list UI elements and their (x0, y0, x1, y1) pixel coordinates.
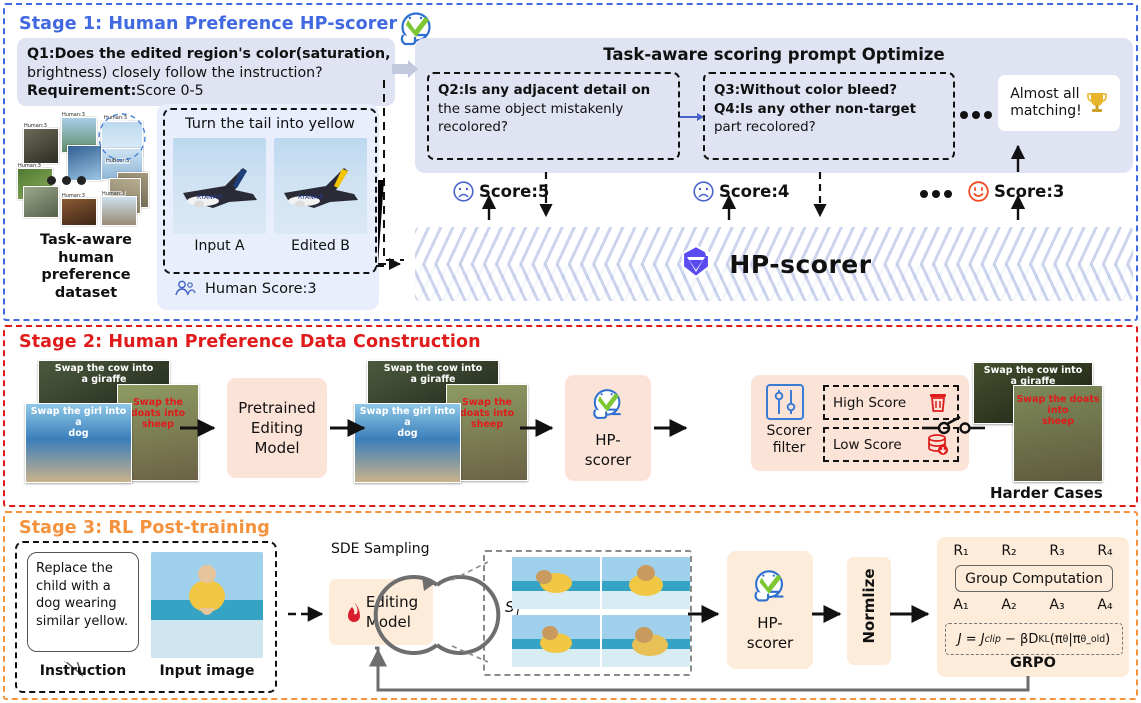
caption-cow: Swap the cow intoa giraffe (974, 365, 1092, 387)
editing-model-label: EditingModel (366, 592, 418, 632)
happy-face-icon (968, 181, 989, 202)
image-pair-labels: Input A Edited B (173, 238, 367, 254)
svg-text:RYANAIR: RYANAIR (197, 194, 223, 201)
low-score-label: Low Score (833, 437, 902, 453)
optimize-title: Task-aware scoring prompt Optimize (415, 45, 1133, 64)
stage-2-title: Stage 2: Human Preference Data Construct… (19, 332, 481, 352)
harder-cases-label: Harder Cases (990, 484, 1103, 502)
q2-line-1: Q2:Is any adjacent detail on (438, 82, 669, 101)
low-score-row: Low Score (823, 427, 959, 462)
pretrained-editing-model-box: PretrainedEditingModel (227, 378, 327, 478)
q3-line: Q3:Without color bleed? (714, 82, 944, 101)
hp-scorer-label: HP-scorer (729, 250, 871, 279)
scorer-filter-box: Scorerfilter High Score Low Score (751, 375, 969, 471)
input-image (151, 552, 263, 658)
score-3-label: Score:3 (994, 182, 1064, 201)
human-score-row: Human Score:3 (173, 280, 317, 297)
thumbnail (61, 198, 97, 226)
task-aware-dataset: Human:3 Human:3 Human:3 HuBoor:3 Human:3… (15, 110, 155, 310)
grpo-label: GRPO (937, 655, 1129, 671)
reward-2: R₂ (1001, 543, 1016, 559)
image-pair: RYANAIR RYANAIR (173, 138, 367, 234)
sample-dashed-frame: Turn the tail into yellow RYANAIR (163, 108, 377, 274)
hp-head-check-icon (749, 567, 791, 609)
caption-girl: Swap the girl into adog (26, 406, 131, 439)
score-4-row: Score:4 (693, 181, 789, 202)
advantage-2: A₂ (1001, 597, 1016, 613)
thumbnail-label: Human:3 (101, 191, 126, 197)
flame-icon (344, 601, 364, 623)
trash-icon (927, 392, 949, 414)
almost-matching-text: Almost all matching! (1010, 86, 1082, 120)
caption-girl: Swap the girl into adog (355, 406, 460, 439)
hp-scorer-bar: HP-scorer (415, 227, 1133, 301)
q2-line-3: recolored? (438, 119, 669, 138)
instruction-text: Replace the child with a dog wearing sim… (36, 560, 130, 630)
photo-girl-dog: Swap the girl into adog (25, 403, 132, 483)
stage-3-title: Stage 3: RL Post-training (19, 518, 270, 538)
selection-circle-icon (97, 112, 147, 162)
advantage-4: A₄ (1097, 597, 1112, 613)
hp-head-check-icon (588, 386, 628, 426)
stage-2-panel: Stage 2: Human Preference Data Construct… (3, 325, 1138, 507)
thumbnail-label: Human:3 (61, 193, 86, 199)
almost-matching-box: Almost all matching! (998, 75, 1120, 131)
advantages-row: A₁ A₂ A₃ A₄ (937, 597, 1129, 613)
scorer-filter-label: Scorerfilter (759, 423, 819, 457)
instruction-caption: Instruction (27, 663, 139, 679)
thumbnail-label: Human:3 (23, 123, 48, 129)
high-score-row: High Score (823, 385, 959, 420)
sde-sampling-label: SDE Sampling (331, 541, 430, 557)
stage-3-panel: Stage 3: RL Post-training Replace the ch… (3, 511, 1138, 700)
thumbnail (101, 196, 137, 226)
thumbnail-label: Human:3 (17, 163, 42, 169)
hp-scorer-label-stage3: HP-scorer (747, 613, 793, 653)
hp-scorer-label-stage2: HP-scorer (585, 430, 631, 470)
database-down-icon (927, 434, 949, 456)
instruction-input-box: Replace the child with a dog wearing sim… (15, 541, 277, 693)
dataset-thumbnails: Human:3 Human:3 Human:3 HuBoor:3 Human:3… (15, 110, 155, 220)
editing-model-box: EditingModel (329, 579, 433, 645)
q2-box: Q2:Is any adjacent detail on the same ob… (427, 72, 680, 160)
rewards-row: R₁ R₂ R₃ R₄ (937, 543, 1129, 559)
people-icon (173, 280, 197, 297)
hp-scorer-box-stage3: HP-scorer (727, 551, 813, 669)
optimize-panel: Task-aware scoring prompt Optimize Q2:Is… (415, 38, 1133, 173)
score-5-row: Score:5 (453, 181, 549, 202)
q1-line-2: brightness) closely follow the instructi… (27, 64, 385, 83)
stage-1-panel: Stage 1: Human Preference HP-scorer Q1:D… (3, 3, 1138, 321)
sampled-outputs-grid (483, 550, 692, 676)
optimize-ellipsis (960, 111, 992, 119)
advantage-3: A₃ (1049, 597, 1064, 613)
q3-q4-box: Q3:Without color bleed? Q4:Is any other … (703, 72, 955, 160)
normalize-box: Normlize (847, 557, 891, 665)
caption-cow: Swap the cow intoa giraffe (368, 363, 498, 385)
dataset-caption: Task-aware human preference dataset (13, 232, 159, 302)
optimize-arrow-icon (680, 112, 704, 122)
score-3-row: Score:3 (968, 181, 1064, 202)
normalize-label: Normlize (860, 552, 878, 660)
hp-scorer-box-stage2: HP-scorer (565, 375, 651, 481)
sample-cell (512, 557, 600, 609)
trophy-icon (1086, 91, 1108, 115)
label-input-a: Input A (173, 238, 266, 254)
group-computation-label: Group Computation (955, 565, 1113, 592)
q4-line-1: Q4:Is any other non-target (714, 101, 944, 120)
reward-3: R₃ (1049, 543, 1064, 559)
photo-girl-dog-out: Swap the girl into adog (354, 403, 461, 483)
instruction-bubble: Replace the child with a dog wearing sim… (27, 552, 139, 652)
pretrained-editing-model-label: PretrainedEditingModel (238, 398, 316, 458)
grpo-formula: J = Jclip − βDKL(πθ|πθ_old) (945, 623, 1123, 655)
sample-instruction: Turn the tail into yellow (165, 116, 375, 132)
sad-face-icon (693, 181, 714, 202)
human-score-text: Human Score:3 (205, 281, 317, 297)
stage-1-title: Stage 1: Human Preference HP-scorer (19, 14, 397, 34)
score-4-label: Score:4 (719, 182, 789, 201)
score-5-label: Score:5 (479, 182, 549, 201)
q4-line-2: part recolored? (714, 119, 944, 138)
sample-cell (602, 615, 690, 667)
thumbnail (23, 128, 59, 164)
q2-line-2: the same object mistakenly (438, 101, 669, 120)
ellipsis-dots (47, 176, 86, 185)
caption-cow: Swap the cow intoa giraffe (39, 363, 169, 385)
input-image-a: RYANAIR (173, 138, 266, 234)
sample-card: Turn the tail into yellow RYANAIR (157, 104, 379, 310)
grpo-box: R₁ R₂ R₃ R₄ Group Computation A₁ A₂ A₃ A… (937, 537, 1129, 677)
reward-1: R₁ (953, 543, 968, 559)
q1-prompt-box: Q1:Does the edited region's color(satura… (17, 38, 395, 106)
q1-line-1: Q1:Does the edited region's color(satura… (27, 45, 385, 64)
score-ellipsis (920, 190, 952, 198)
sad-face-icon (453, 181, 474, 202)
reward-4: R₄ (1097, 543, 1112, 559)
q1-line-3: Requirement:Score 0-5 (27, 82, 385, 101)
thumbnail-label: Human:3 (61, 112, 86, 118)
photo-harder-goat: Swap the doats intosheep (1013, 385, 1103, 482)
input-image-caption: Input image (151, 663, 263, 679)
high-score-label: High Score (833, 395, 906, 411)
caption-goats: Swap the doats intosheep (1014, 394, 1102, 427)
svg-text:RYANAIR: RYANAIR (298, 194, 324, 201)
thumbnail (23, 186, 59, 218)
hp-logo-icon (676, 243, 716, 285)
advantage-1: A₁ (953, 597, 968, 613)
sliders-icon (765, 383, 805, 421)
label-edited-b: Edited B (274, 238, 367, 254)
edited-image-b: RYANAIR (274, 138, 367, 234)
sample-cell (512, 615, 600, 667)
sample-cell (602, 557, 690, 609)
